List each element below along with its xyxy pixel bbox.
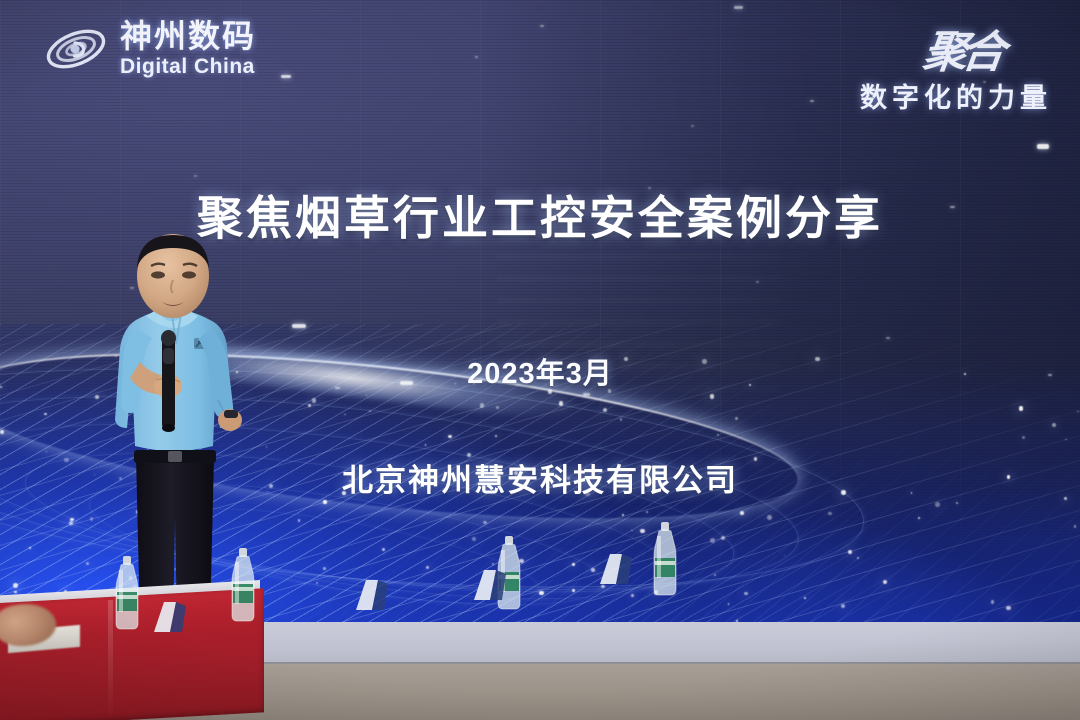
wave-spark [591,568,595,572]
wave-spark [1019,406,1023,410]
wave-spark [382,548,385,551]
wave-spark [0,430,3,433]
wave-spark [316,582,318,584]
background-dash-particle [756,281,759,283]
wave-spark [631,594,634,597]
brand-logo: 神州数码 Digital China [44,20,256,77]
wave-spark [804,597,806,599]
wave-spark [13,583,18,588]
wave-spark [298,519,300,521]
wave-spark [483,521,487,525]
wave-spark [1077,411,1078,412]
background-dash-particle [292,324,306,328]
name-card [470,568,510,602]
spiral-galaxy-logo-icon [44,21,108,77]
wave-spark [728,603,729,604]
wave-spark [710,538,715,543]
background-dash-particle [886,337,890,339]
wave-spark [480,403,484,407]
wave-spark [710,394,715,399]
wave-spark [69,521,73,525]
handheld-microphone-icon [161,330,176,432]
event-tagline-calligraphy: 聚合 [920,16,1004,80]
background-dash-particle [734,6,743,9]
water-bottle [650,522,680,598]
wave-spark [344,414,346,416]
wave-spark [744,592,747,595]
wave-spark [448,435,451,438]
wave-spark [640,529,644,533]
wave-spark [735,417,738,420]
speaker-eye-right [182,271,196,278]
wave-spark [539,591,544,596]
wave-spark [935,502,940,507]
wave-spark [312,398,317,403]
background-dash-particle [583,393,590,396]
wave-spark [86,562,89,565]
presentation-clicker-icon [224,410,238,418]
brand-name-english: Digital China [120,56,256,77]
speaker-belt-buckle [168,451,182,462]
background-dash-particle [540,25,544,27]
name-card [596,552,636,586]
wave-spark [767,515,772,520]
background-dash-particle [281,75,291,78]
wave-spark [1065,439,1066,440]
wave-spark [323,500,326,503]
wave-spark [918,517,920,519]
conference-stage-photo: 神州数码 Digital China 聚合 数字化的力量 聚焦烟草行业工控安全案… [0,0,1080,720]
wave-spark [631,530,632,531]
event-tagline-subtitle: 数字化的力量 [860,76,1052,115]
wave-spark [70,518,74,522]
background-dash-particle [691,125,694,127]
brand-name-chinese: 神州数码 [120,20,256,52]
wave-spark [1006,606,1010,610]
event-tagline: 聚合 数字化的力量 [860,16,1052,115]
wave-spark [717,434,719,436]
wave-spark [572,563,575,566]
wave-spark [991,600,995,604]
water-bottle [228,548,258,624]
brand-logo-text: 神州数码 Digital China [120,20,256,77]
wave-spark [472,537,476,541]
speaker-eye-left [151,271,165,278]
name-card [150,600,190,634]
wave-spark [857,557,859,559]
wave-spark [1074,525,1076,527]
background-dash-particle [1037,144,1049,149]
wave-spark [841,604,845,608]
water-bottle [112,556,142,632]
wave-spark [323,567,326,570]
wave-spark [848,550,852,554]
wave-spark [740,511,744,515]
name-card [352,578,392,612]
wave-spark [620,418,623,421]
background-dash-particle [810,100,814,102]
